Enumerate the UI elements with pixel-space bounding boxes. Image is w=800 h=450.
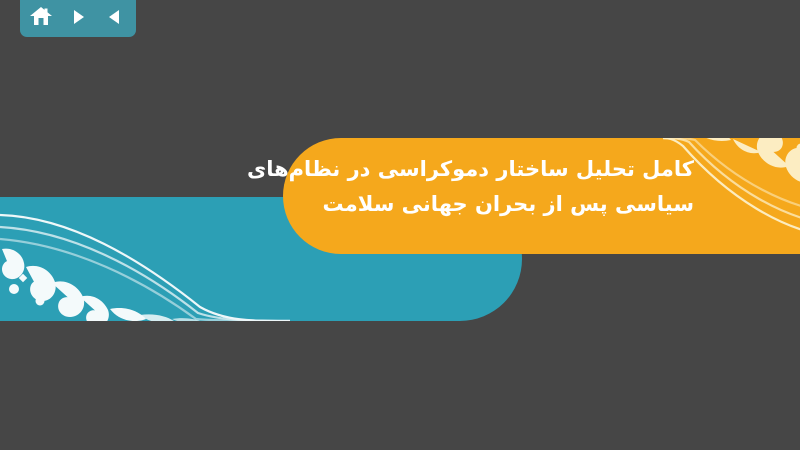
home-icon[interactable]: [29, 5, 53, 29]
arabesque-ornament-top-right: [663, 138, 800, 254]
home-icon-glyph: [29, 6, 53, 28]
slide-canvas: کامل تحلیل ساختار دموکراسی در نظام‌های س…: [0, 0, 800, 450]
forward-icon-glyph: [68, 7, 88, 27]
arabesque-ornament-bottom-left: [0, 197, 290, 321]
back-icon-glyph: [105, 7, 125, 27]
back-icon[interactable]: [103, 5, 127, 29]
forward-icon[interactable]: [66, 5, 90, 29]
navigation-bar: [20, 0, 136, 37]
orange-banner: [283, 138, 800, 254]
